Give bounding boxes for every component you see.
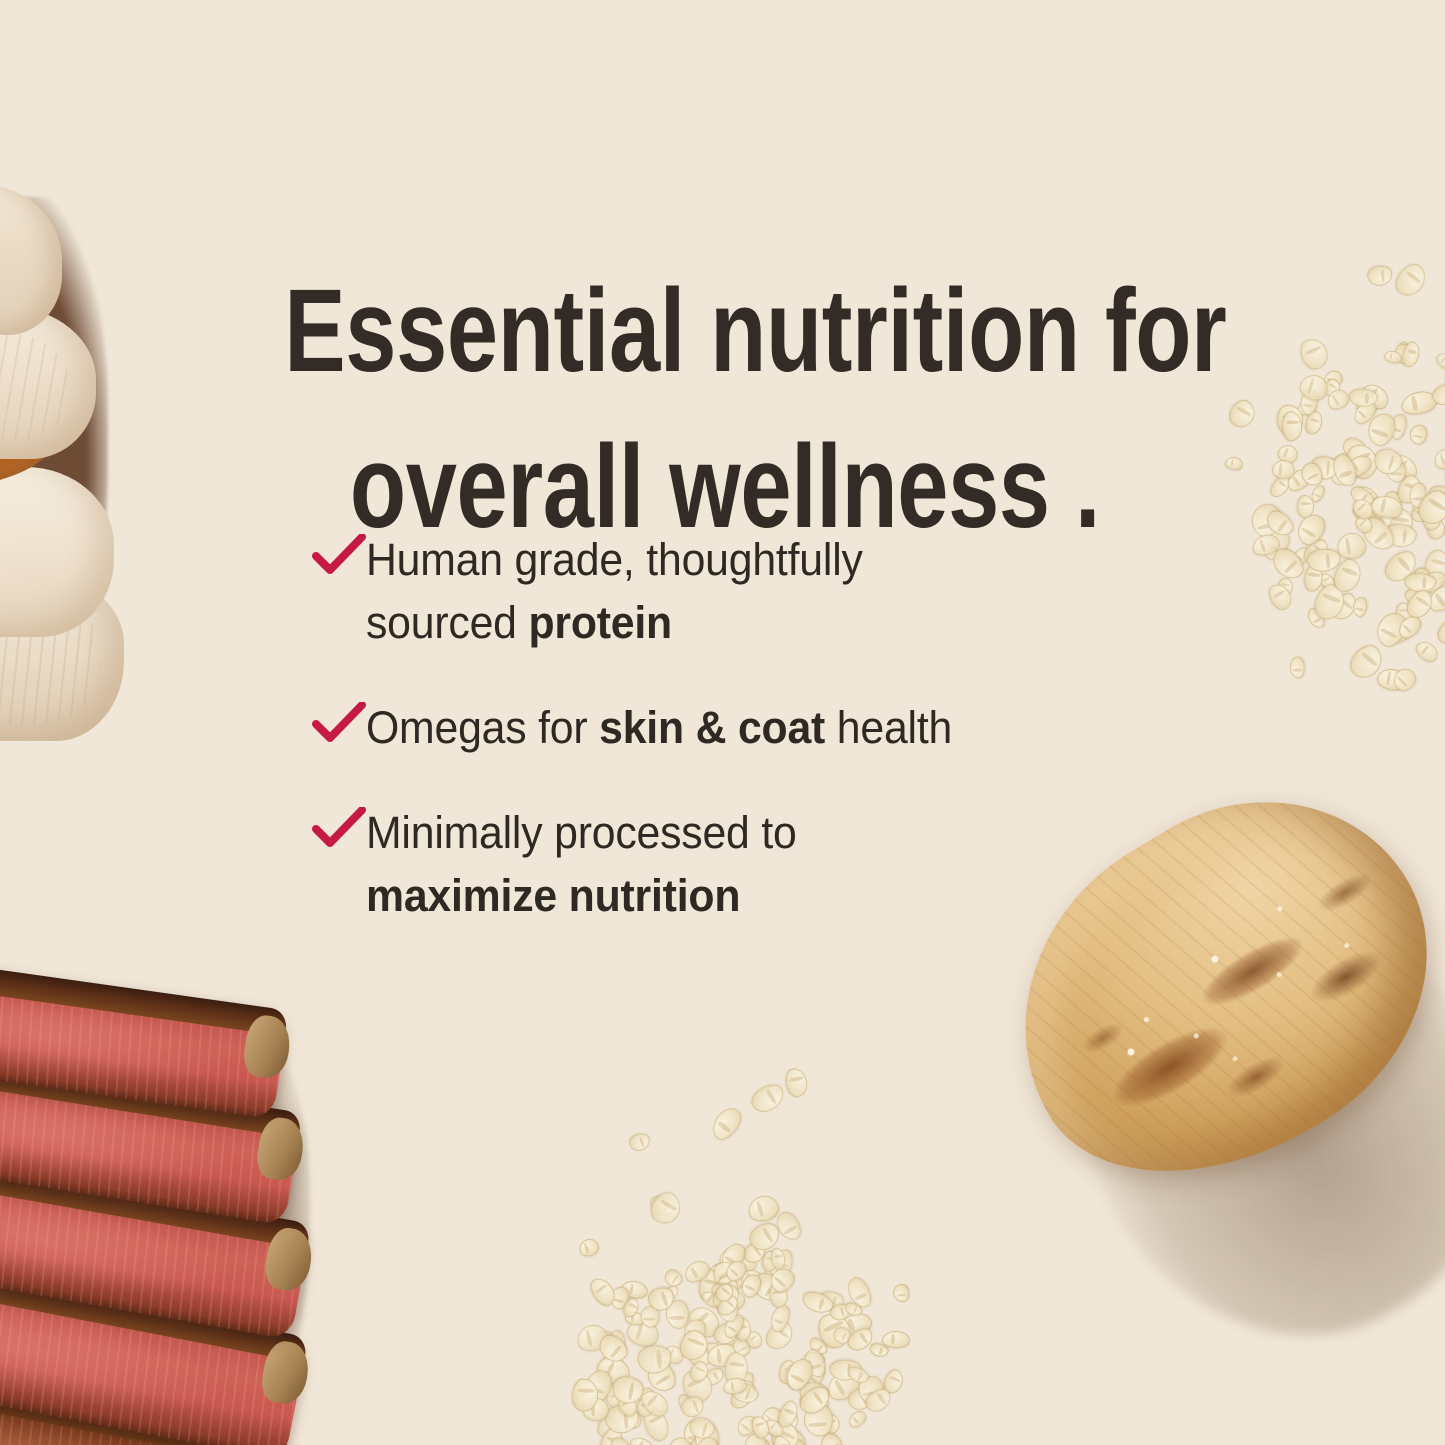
page-title: Essential nutrition for overall wellness… [284, 254, 1165, 566]
list-item: Omegas for skin & coat health [312, 696, 1212, 759]
list-item: Minimally processed to maximize nutritio… [312, 801, 1212, 927]
content-layer: Essential nutrition for overall wellness… [0, 0, 1445, 1445]
bullet-3-line1: Minimally processed to [366, 807, 797, 858]
list-item-label: Human grade, thoughtfully sourced protei… [366, 528, 863, 654]
headline-line-1: Essential nutrition for [284, 254, 1165, 410]
bullet-1-emphasis: protein [528, 597, 672, 648]
bullet-1-line2: sourced [366, 597, 528, 648]
list-item-label: Minimally processed to maximize nutritio… [366, 801, 797, 927]
check-icon [312, 534, 366, 578]
bullet-2-emphasis: skin & coat [599, 702, 825, 753]
bullet-3-emphasis: maximize nutrition [366, 870, 740, 921]
benefits-list: Human grade, thoughtfully sourced protei… [312, 528, 1212, 969]
check-icon [312, 702, 366, 746]
list-item-label: Omegas for skin & coat health [366, 696, 952, 759]
marketing-banner: Essential nutrition for overall wellness… [0, 0, 1445, 1445]
check-icon [312, 807, 366, 851]
bullet-1-line1: Human grade, thoughtfully [366, 534, 863, 585]
bullet-2-tail: health [825, 702, 952, 753]
bullet-2-lead: Omegas for [366, 702, 599, 753]
list-item: Human grade, thoughtfully sourced protei… [312, 528, 1212, 654]
